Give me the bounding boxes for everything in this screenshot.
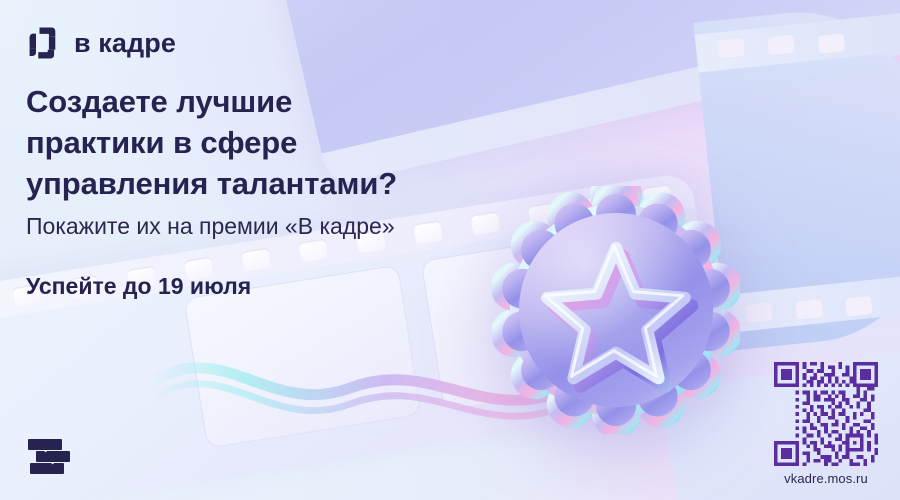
qr-block[interactable]: vkadre.mos.ru bbox=[774, 362, 878, 486]
banner-content: в кадре Создаете лучшие практики в сфере… bbox=[0, 0, 900, 500]
headline-line-1: Создаете лучшие bbox=[26, 82, 496, 123]
promo-banner: в кадре Создаете лучшие практики в сфере… bbox=[0, 0, 900, 500]
qr-code-icon[interactable] bbox=[774, 362, 878, 466]
qr-caption: vkadre.mos.ru bbox=[784, 471, 868, 486]
page-title: Создаете лучшие практики в сфере управле… bbox=[26, 82, 496, 205]
headline-line-2: практики в сфере bbox=[26, 123, 496, 164]
subtitle: Покажите их на премии «В кадре» bbox=[26, 212, 395, 242]
headline-line-3: управления талантами? bbox=[26, 164, 496, 205]
deadline-text: Успейте до 19 июля bbox=[26, 272, 251, 302]
vkadre-frame-icon bbox=[28, 26, 62, 60]
brand-logo-text: в кадре bbox=[74, 28, 176, 59]
moscow-government-logo-icon bbox=[26, 436, 88, 478]
brand-logo[interactable]: в кадре bbox=[28, 26, 176, 60]
